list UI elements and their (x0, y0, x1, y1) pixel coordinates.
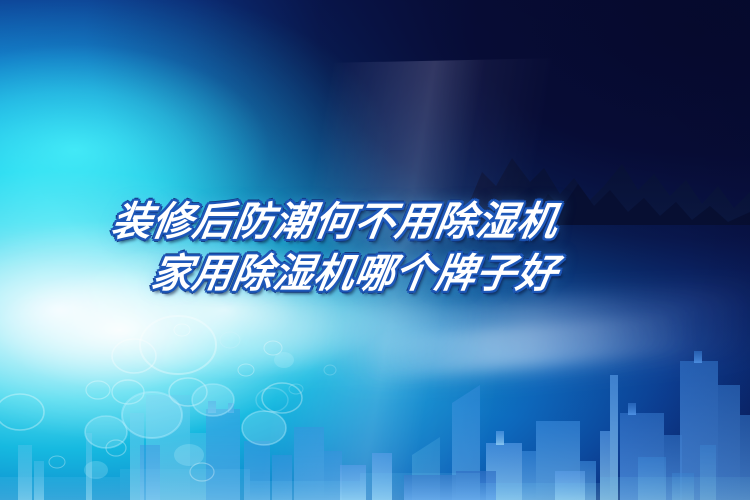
headline-block: 装修后防潮何不用除湿机 家用除湿机哪个牌子好 (0, 196, 750, 300)
headline-line-2: 家用除湿机哪个牌子好 (148, 248, 561, 300)
banner-image: 装修后防潮何不用除湿机 家用除湿机哪个牌子好 (0, 0, 750, 500)
headline-line-2-row: 家用除湿机哪个牌子好 (0, 248, 750, 300)
headline-line-1: 装修后防潮何不用除湿机 (108, 196, 562, 248)
headline-line-1-row: 装修后防潮何不用除湿机 (0, 196, 750, 248)
